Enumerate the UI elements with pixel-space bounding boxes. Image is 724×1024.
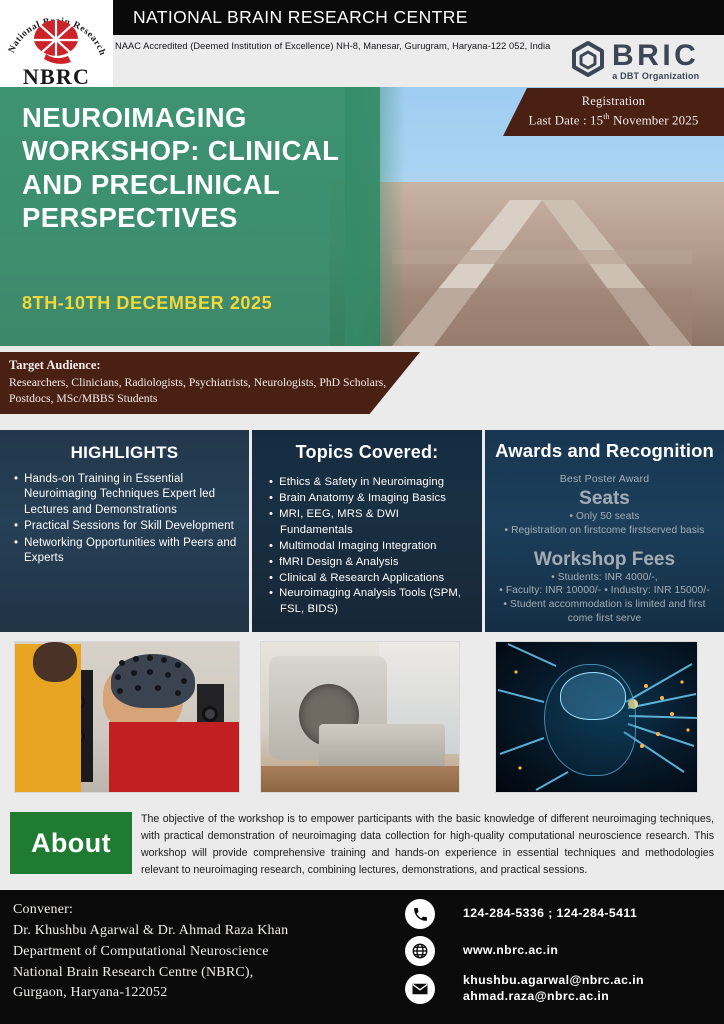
list-item: MRI, EEG, MRS & DWI Fundamentals (262, 507, 474, 539)
list-item: Ethics & Safety in Neuroimaging (262, 475, 474, 491)
globe-icon (405, 936, 435, 966)
contact-website: www.nbrc.ac.in (463, 943, 558, 959)
convener-department: Department of Computational Neuroscience (13, 942, 403, 963)
registration-deadline: Last Date : 15th November 2025 (503, 112, 724, 128)
about-section: About The objective of the workshop is t… (0, 806, 724, 888)
list-item: Brain Anatomy & Imaging Basics (262, 491, 474, 507)
list-item: Multimodal Imaging Integration (262, 539, 474, 555)
envelope-icon (405, 974, 435, 1004)
contact-email-1: khushbu.agarwal@nbrc.ac.in (463, 973, 644, 989)
registration-ribbon: Registration Last Date : 15th November 2… (503, 88, 724, 136)
highlights-heading: HIGHLIGHTS (0, 443, 249, 463)
about-badge-label: About (31, 828, 111, 859)
target-audience-body: Researchers, Clinicians, Radiologists, P… (9, 375, 399, 407)
poster-root: NATIONAL BRAIN RESEARCH CENTRE NAAC Accr… (0, 0, 724, 1024)
photo-strip (0, 632, 724, 804)
list-item: Clinical & Research Applications (262, 571, 474, 587)
nbrc-brain-icon: National Brain Research Centre (2, 2, 111, 68)
convener-names: Dr. Khushbu Agarwal & Dr. Ahmad Raza Kha… (13, 921, 403, 942)
target-audience-banner: Target Audience: Researchers, Clinicians… (0, 352, 420, 414)
campus-arch-shape (392, 192, 692, 346)
contact-email-2: ahmad.raza@nbrc.ac.in (463, 989, 644, 1005)
list-item: Practical Sessions for Skill Development (8, 519, 241, 534)
awards-heading: Awards and Recognition (485, 440, 724, 462)
contact-emails: khushbu.agarwal@nbrc.ac.in ahmad.raza@nb… (463, 973, 644, 1005)
accreditation-line: NAAC Accredited (Deemed Institution of E… (115, 41, 550, 51)
eeg-session-photo (14, 641, 240, 793)
convener-block: Convener: Dr. Khushbu Agarwal & Dr. Ahma… (13, 900, 403, 1004)
list-item: Hands-on Training in Essential Neuroimag… (8, 472, 241, 518)
bric-tagline: a DBT Organization (612, 71, 699, 81)
about-text: The objective of the workshop is to empo… (141, 811, 714, 878)
awards-column: Awards and Recognition Best Poster Award… (485, 430, 724, 632)
topics-heading: Topics Covered: (252, 442, 482, 463)
highlights-column: HIGHLIGHTS Hands-on Training in Essentia… (0, 430, 249, 632)
bric-wordmark: BRIC (612, 42, 699, 71)
convener-label: Convener: (13, 900, 403, 921)
list-item: Networking Opportunities with Peers and … (8, 536, 241, 567)
list-item: fMRI Design & Analysis (262, 555, 474, 571)
contact-email-row[interactable]: khushbu.agarwal@nbrc.ac.in ahmad.raza@nb… (405, 973, 720, 1005)
hero-title: NEUROIMAGING WORKSHOP: CLINICAL AND PREC… (22, 101, 372, 234)
contact-phone-row[interactable]: 124-284-5336 ; 124-284-5411 (405, 899, 720, 929)
topics-list: Ethics & Safety in Neuroimaging Brain An… (262, 475, 474, 618)
list-item: Neuroimaging Analysis Tools (SPM, FSL, B… (262, 586, 474, 618)
nbrc-logo: National Brain Research Centre NBRC (0, 0, 113, 90)
footer: Convener: Dr. Khushbu Agarwal & Dr. Ahma… (0, 890, 724, 1024)
info-columns: HIGHLIGHTS Hands-on Training in Essentia… (0, 430, 724, 632)
about-badge: About (10, 812, 132, 874)
convener-institute: National Brain Research Centre (NBRC), (13, 963, 403, 984)
mri-scanner-photo (260, 641, 460, 793)
contact-website-row[interactable]: www.nbrc.ac.in (405, 936, 720, 966)
bric-logo: BRIC a DBT Organization (566, 36, 724, 87)
contact-block: 124-284-5336 ; 124-284-5411 www.nbrc.ac.… (405, 899, 720, 1012)
target-audience-title: Target Audience: (9, 358, 101, 373)
hero-dates: 8TH-10TH DECEMBER 2025 (22, 293, 272, 314)
registration-label: Registration (503, 94, 724, 109)
phone-icon (405, 899, 435, 929)
topics-column: Topics Covered: Ethics & Safety in Neuro… (252, 430, 482, 632)
brain-illustration-photo (495, 641, 698, 793)
convener-city: Gurgaon, Haryana-122052 (13, 983, 403, 1004)
highlights-list: Hands-on Training in Essential Neuroimag… (8, 472, 241, 566)
bric-hexagon-icon (566, 40, 610, 84)
institute-name: NATIONAL BRAIN RESEARCH CENTRE (133, 7, 468, 28)
contact-phone: 124-284-5336 ; 124-284-5411 (463, 906, 637, 922)
